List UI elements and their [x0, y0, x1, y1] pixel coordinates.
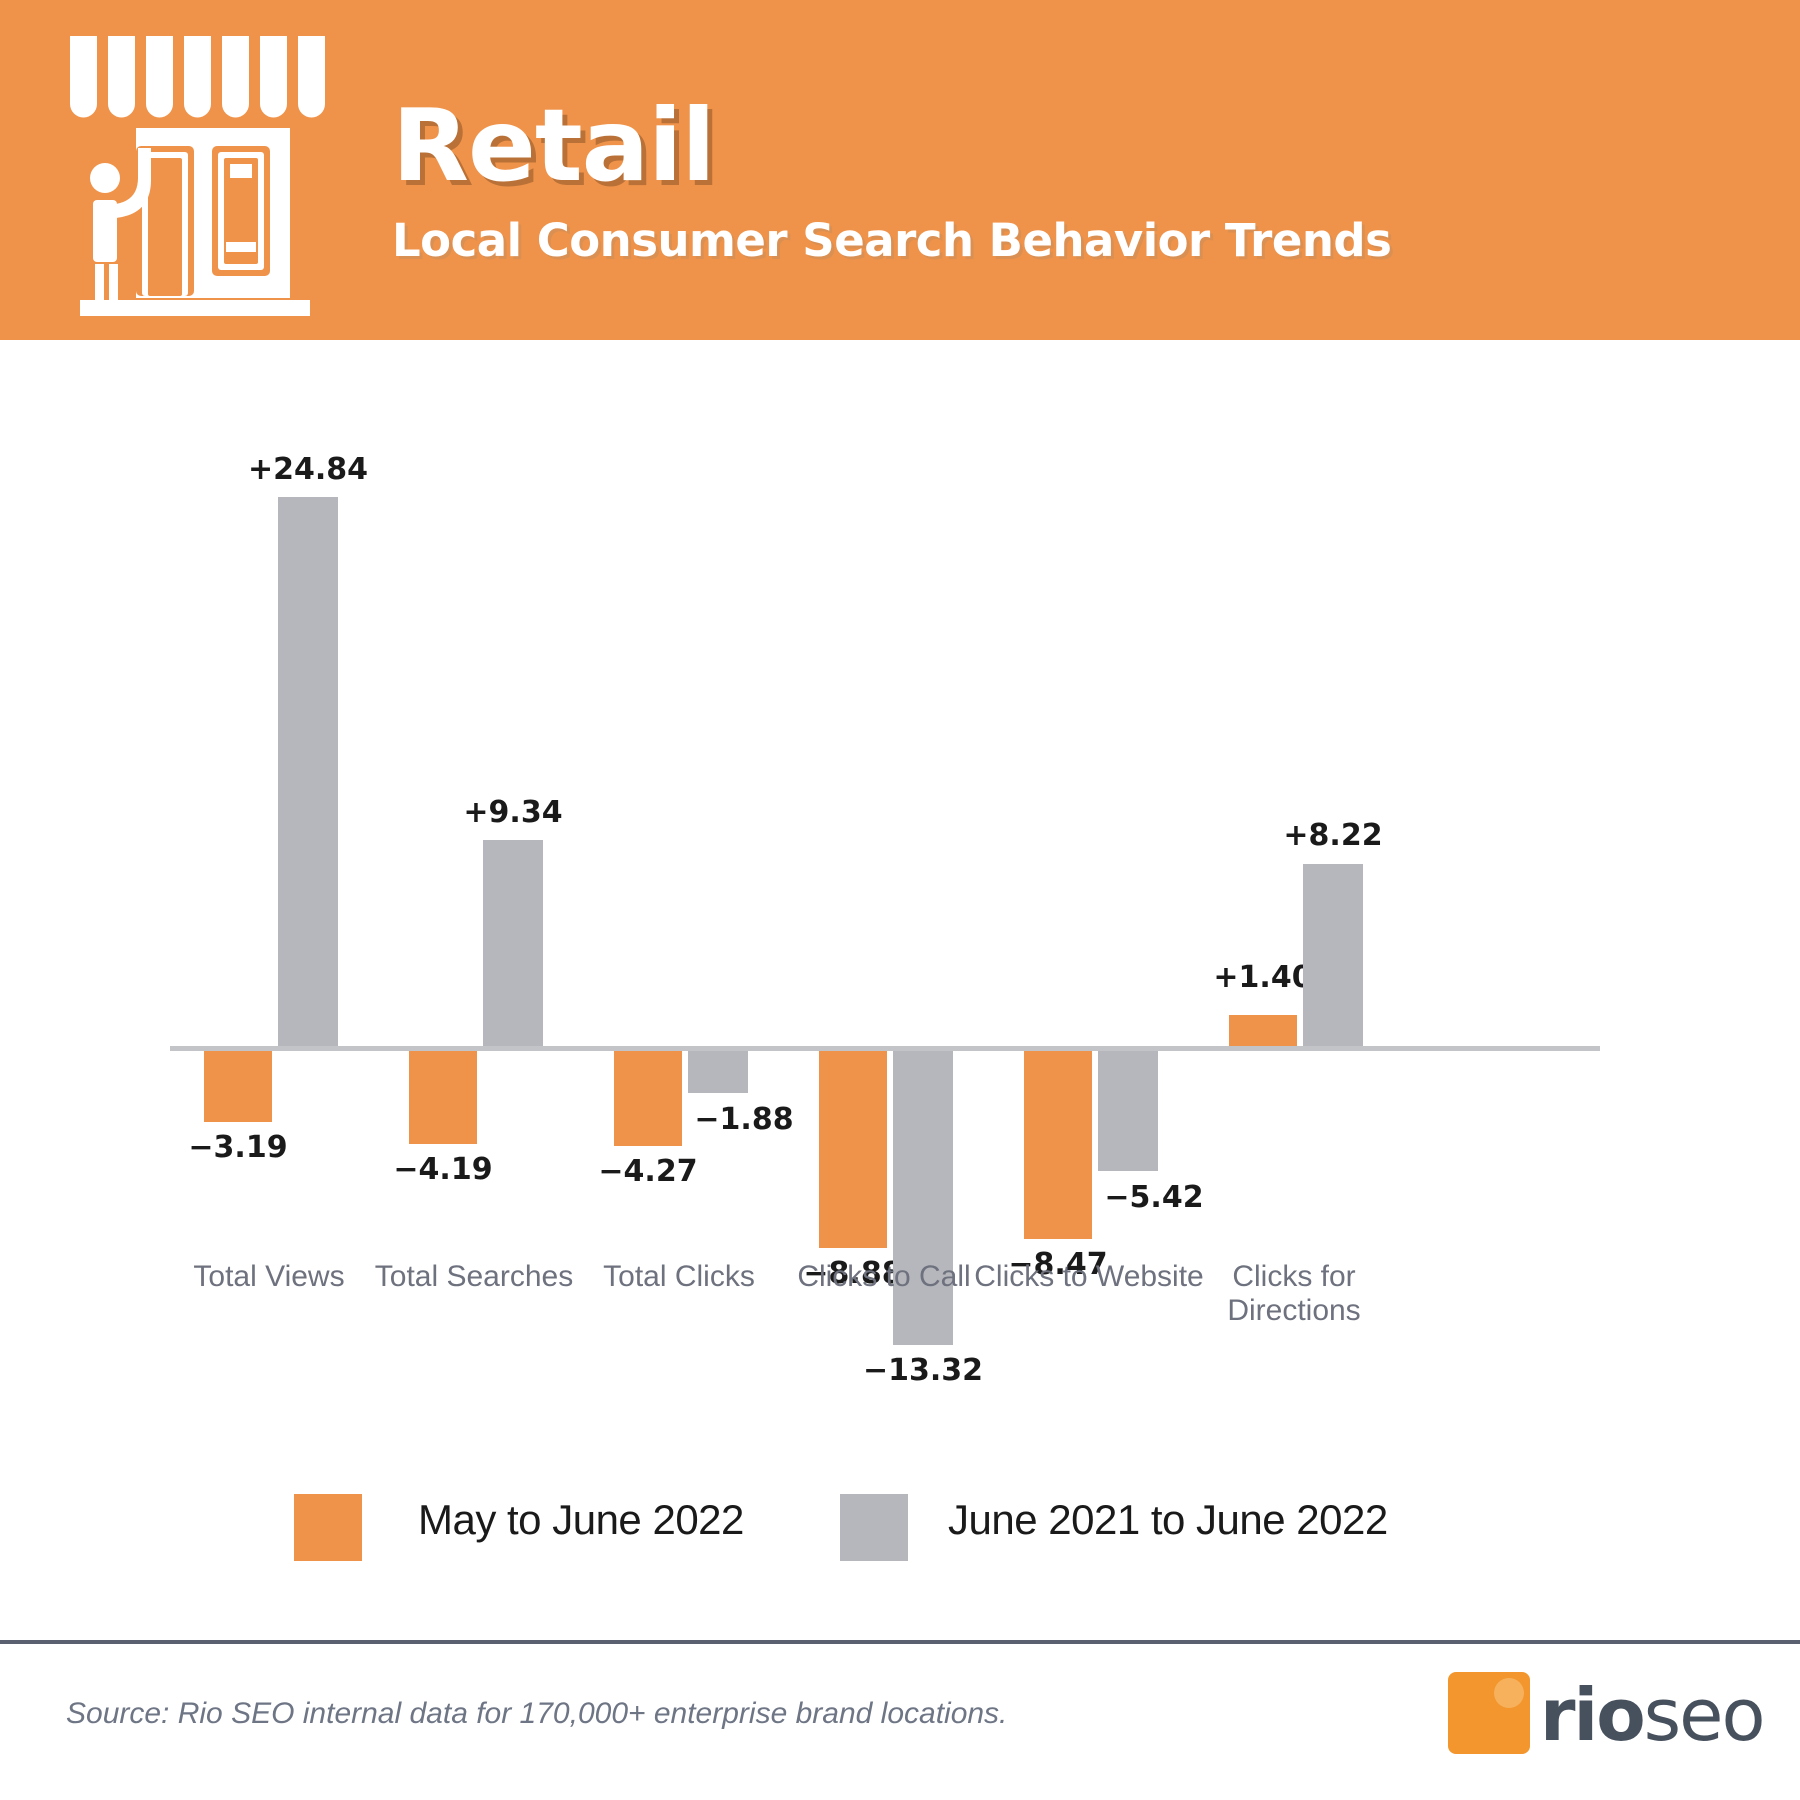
category-label: Clicks for Directions: [1174, 1260, 1414, 1327]
legend-label: May to June 2022: [418, 1496, 744, 1544]
plot-area: −3.19 +24.84 Total Views −4.19 +9.34 Tot…: [170, 440, 1600, 1240]
gray-swatch: [840, 1494, 908, 1561]
footer-divider: [0, 1640, 1800, 1644]
logo-word-seo: seo: [1644, 1673, 1764, 1757]
bar-june-2021-to-june-2022[interactable]: [688, 1051, 748, 1093]
chart-legend: May to June 2022 June 2021 to June 2022: [0, 1480, 1800, 1600]
bar-june-2021-to-june-2022[interactable]: [483, 840, 543, 1046]
legend-label: June 2021 to June 2022: [948, 1496, 1388, 1544]
category-label: Total Clicks: [559, 1260, 799, 1294]
category-label: Total Searches: [354, 1260, 594, 1294]
header-titles: Retail Local Consumer Search Behavior Tr…: [392, 96, 1391, 263]
bar-june-2021-to-june-2022[interactable]: [1098, 1051, 1158, 1171]
bar-value-label: +24.84: [232, 452, 384, 487]
bar-may-to-june-2022[interactable]: [819, 1051, 887, 1248]
retail-storefront-icon: [60, 28, 350, 318]
rio-seo-logo[interactable]: rioseo: [1448, 1672, 1738, 1764]
bar-group-total-views: −3.19 +24.84 Total Views: [170, 440, 408, 1240]
category-label: Total Views: [149, 1260, 389, 1294]
page-subtitle: Local Consumer Search Behavior Trends: [392, 218, 1391, 263]
bar-group-clicks-for-directions: +1.40 +8.22 Clicks for Directions: [1195, 440, 1433, 1240]
bar-value-label: −4.19: [367, 1152, 519, 1187]
bar-june-2021-to-june-2022[interactable]: [1303, 864, 1363, 1046]
legend-item-june-2021-to-june-2022[interactable]: June 2021 to June 2022: [840, 1480, 1360, 1600]
bar-value-label: +9.34: [437, 795, 589, 830]
source-note: Source: Rio SEO internal data for 170,00…: [66, 1697, 1007, 1731]
bar-value-label: −4.27: [572, 1154, 724, 1189]
bar-value-label: −3.19: [162, 1130, 314, 1165]
legend-item-may-to-june-2022[interactable]: May to June 2022: [294, 1480, 714, 1600]
orange-swatch: [294, 1494, 362, 1561]
bar-group-clicks-to-call: −8.88 −13.32 Clicks to Call: [785, 440, 1023, 1240]
bar-may-to-june-2022[interactable]: [1229, 1015, 1297, 1046]
logo-circle-icon: [1494, 1678, 1524, 1708]
bar-group-total-clicks: −4.27 −1.88 Total Clicks: [580, 440, 818, 1240]
bar-may-to-june-2022[interactable]: [409, 1051, 477, 1144]
bar-may-to-june-2022[interactable]: [204, 1051, 272, 1122]
logo-wordmark: rioseo: [1540, 1674, 1764, 1756]
bar-group-total-searches: −4.19 +9.34 Total Searches: [375, 440, 613, 1240]
header-banner: Retail Local Consumer Search Behavior Tr…: [0, 0, 1800, 340]
bar-group-clicks-to-website: −8.47 −5.42 Clicks to Website: [990, 440, 1228, 1240]
bar-june-2021-to-june-2022[interactable]: [278, 497, 338, 1046]
page-title: Retail: [392, 96, 1391, 196]
logo-word-rio: rio: [1540, 1673, 1644, 1757]
bar-value-label: +8.22: [1257, 818, 1409, 853]
bar-chart: −3.19 +24.84 Total Views −4.19 +9.34 Tot…: [0, 340, 1800, 1420]
bar-value-label: −13.32: [847, 1353, 999, 1388]
bar-june-2021-to-june-2022[interactable]: [893, 1051, 953, 1345]
